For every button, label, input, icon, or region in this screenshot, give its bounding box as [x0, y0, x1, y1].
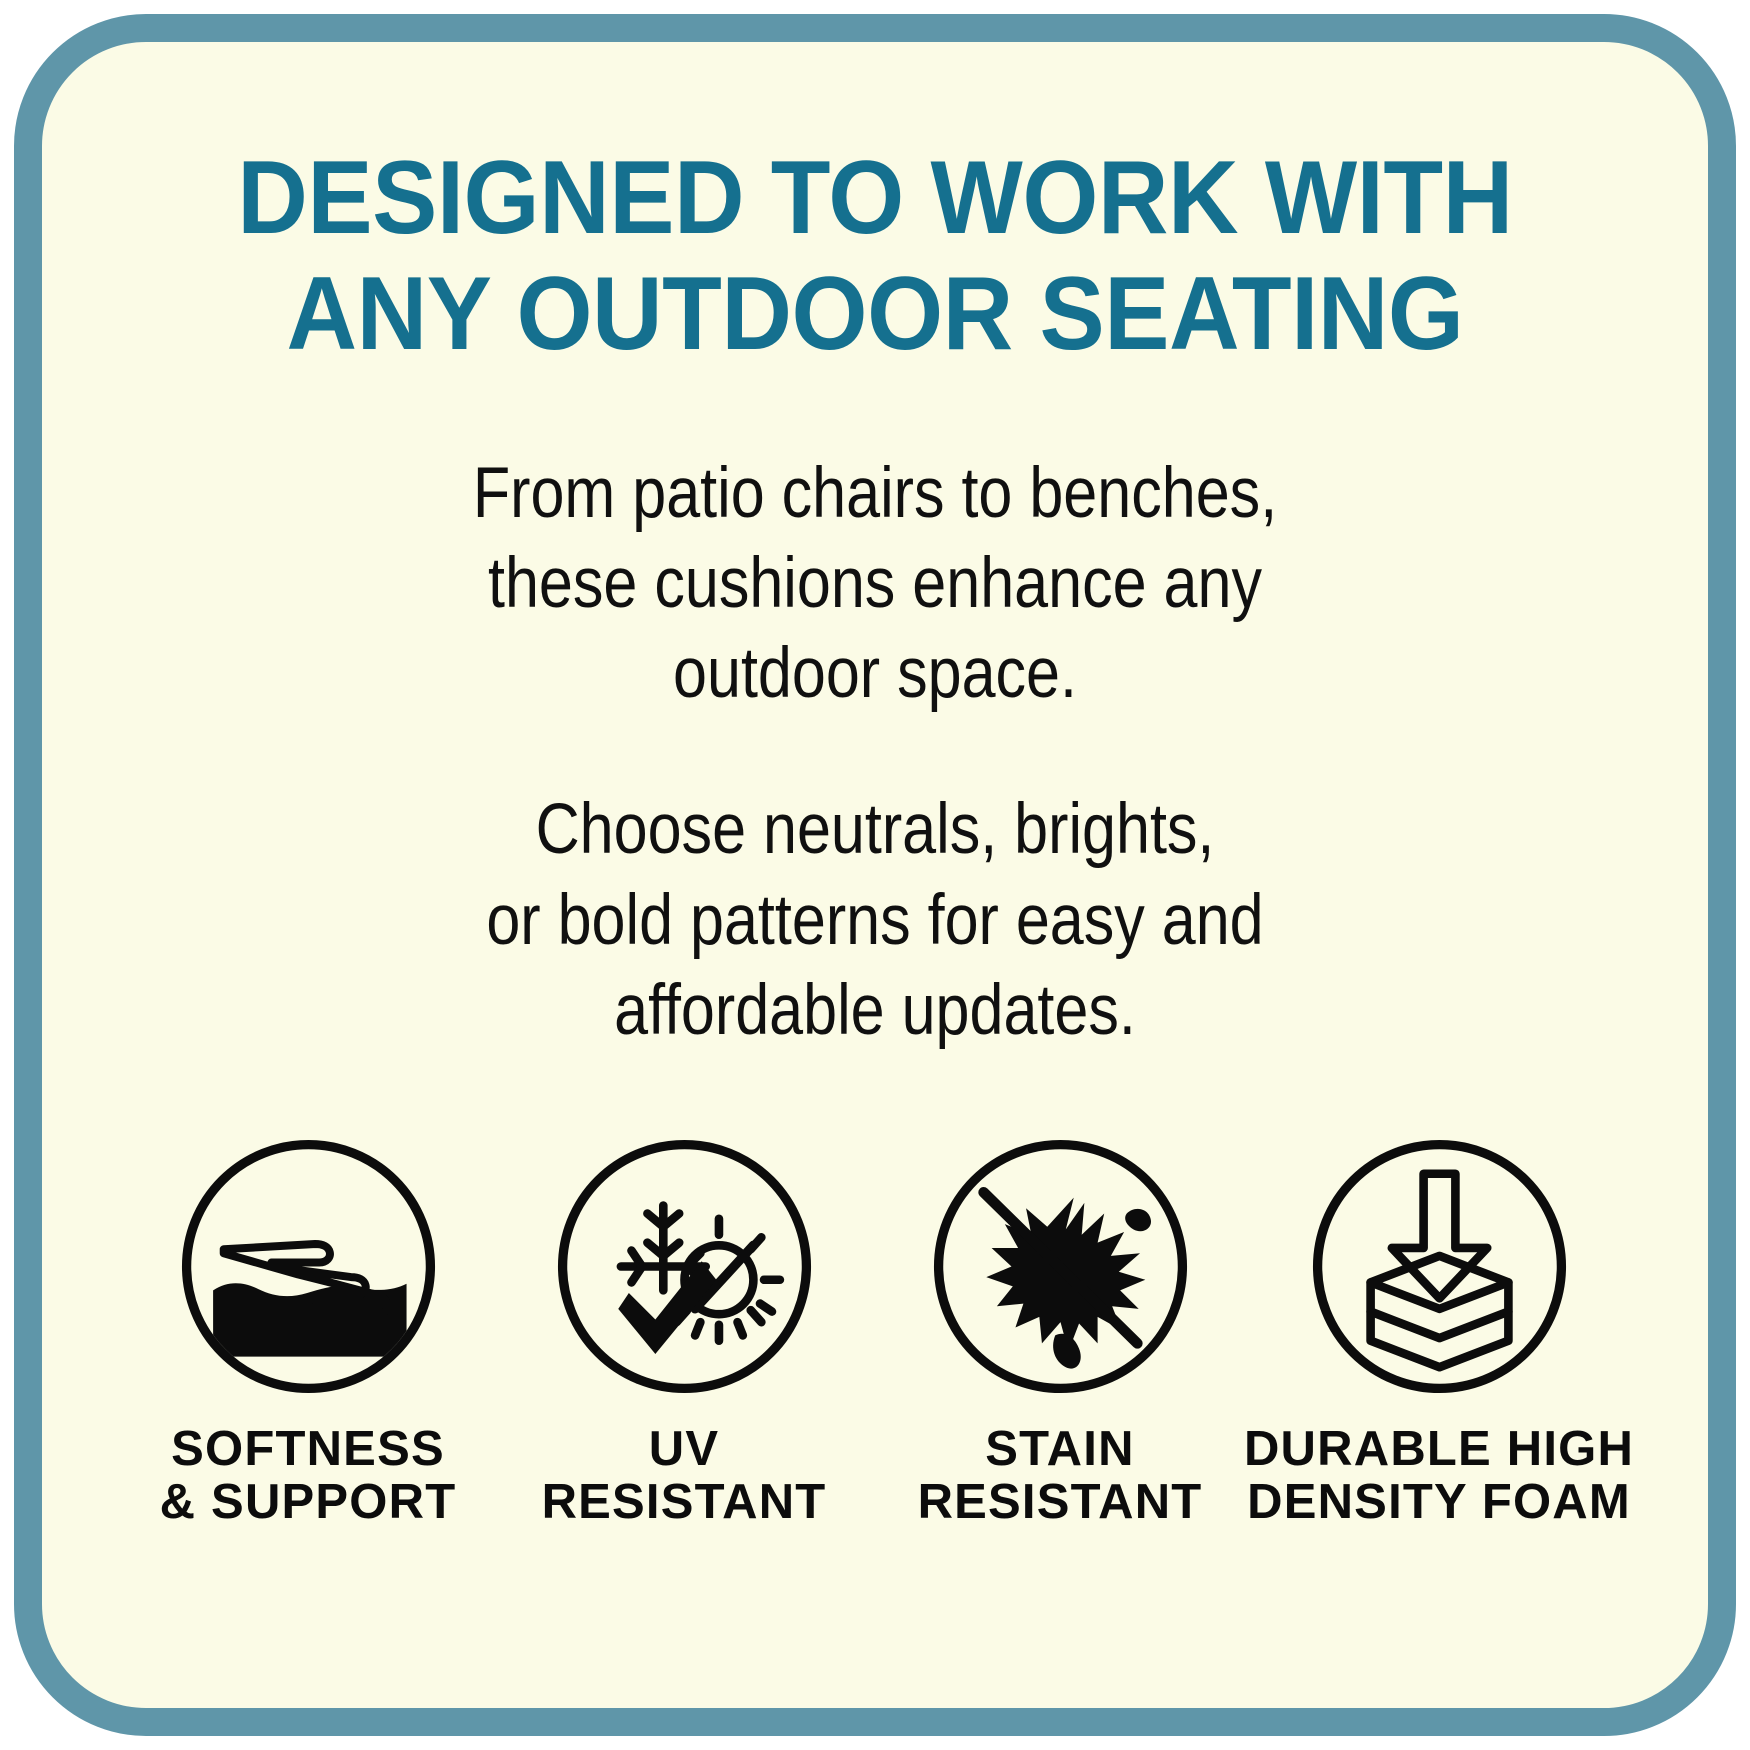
- feature-label-line-2: RESISTANT: [542, 1476, 827, 1529]
- arrow-into-foam-layers-icon: [1307, 1134, 1572, 1399]
- feature-item-uv-resistant: UV RESISTANT: [496, 1134, 872, 1529]
- page-title: DESIGNED TO WORK WITH ANY OUTDOOR SEATIN…: [165, 140, 1584, 373]
- paragraph-1-line-1: From patio chairs to benches,: [226, 449, 1525, 539]
- feature-label-line-2: RESISTANT: [918, 1476, 1203, 1529]
- description-paragraph-2: Choose neutrals, brights, or bold patter…: [226, 785, 1525, 1055]
- paragraph-1-line-2: these cushions enhance any: [226, 539, 1525, 629]
- feature-item-softness-support: SOFTNESS & SUPPORT: [120, 1134, 496, 1529]
- page-title-line-1: DESIGNED TO WORK WITH: [165, 140, 1584, 256]
- feature-label-line-1: SOFTNESS: [160, 1423, 457, 1476]
- snowflake-sun-checkmark-icon: [552, 1134, 817, 1399]
- feature-label-line-2: DENSITY FOAM: [1244, 1476, 1634, 1529]
- description-paragraph-1: From patio chairs to benches, these cush…: [226, 449, 1525, 719]
- paragraph-2-line-3: affordable updates.: [226, 966, 1525, 1056]
- paragraph-2-line-2: or bold patterns for easy and: [226, 876, 1525, 966]
- stain-splatter-no-symbol-icon: [928, 1134, 1193, 1399]
- feature-label-line-1: STAIN: [918, 1423, 1203, 1476]
- feature-label-stain-resistant: STAIN RESISTANT: [918, 1423, 1203, 1529]
- feature-label-line-1: DURABLE HIGH: [1244, 1423, 1634, 1476]
- hand-on-cushion-icon: [176, 1134, 441, 1399]
- feature-item-durable-foam: DURABLE HIGH DENSITY FOAM: [1248, 1134, 1630, 1529]
- feature-label-line-1: UV: [542, 1423, 827, 1476]
- paragraph-1-line-3: outdoor space.: [226, 629, 1525, 719]
- page-title-line-2: ANY OUTDOOR SEATING: [165, 256, 1584, 372]
- feature-icon-row: SOFTNESS & SUPPORT: [120, 1134, 1630, 1529]
- feature-item-stain-resistant: STAIN RESISTANT: [872, 1134, 1248, 1529]
- paragraph-2-line-1: Choose neutrals, brights,: [226, 785, 1525, 875]
- feature-label-durable-foam: DURABLE HIGH DENSITY FOAM: [1244, 1423, 1634, 1529]
- feature-label-softness-support: SOFTNESS & SUPPORT: [160, 1423, 457, 1529]
- feature-label-uv-resistant: UV RESISTANT: [542, 1423, 827, 1529]
- info-card: DESIGNED TO WORK WITH ANY OUTDOOR SEATIN…: [14, 14, 1736, 1736]
- feature-label-line-2: & SUPPORT: [160, 1476, 457, 1529]
